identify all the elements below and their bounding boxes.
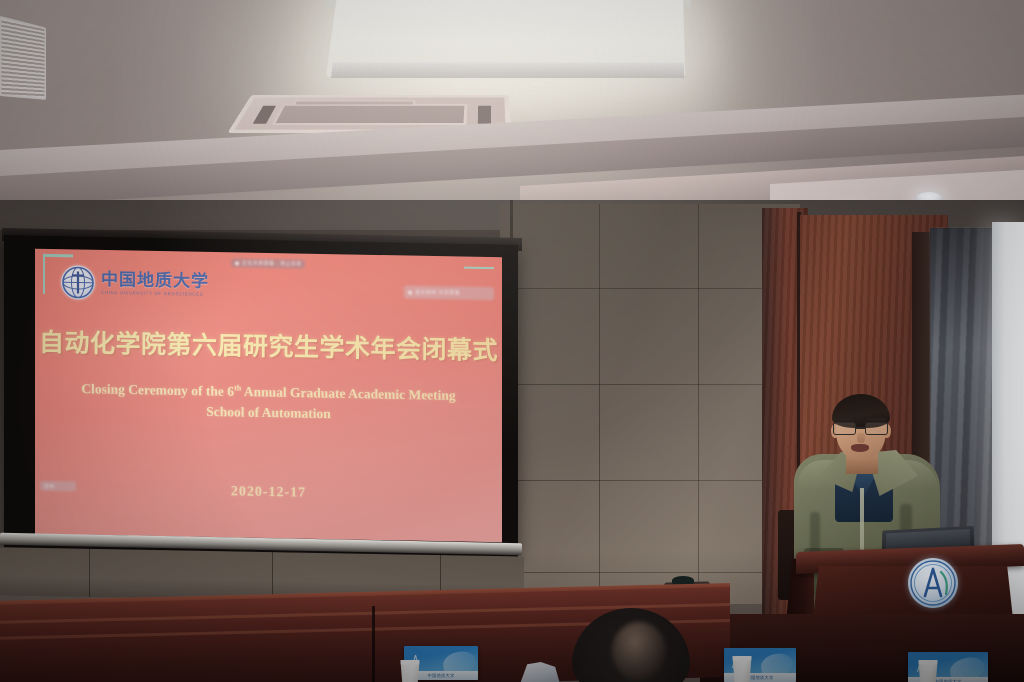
slide-title: 自动化学院第六届研究生学术年会闭幕式 — [35, 323, 502, 368]
school-of-automation-emblem — [908, 558, 958, 608]
slideshow-controls-label: 退出放映 共享屏幕 — [415, 289, 460, 297]
university-name-en: CHINA UNIVERSITY OF GEOSCIENCES — [101, 290, 209, 297]
louvre-vent-icon — [0, 16, 46, 100]
share-status-dot — [235, 261, 239, 265]
presentation-slide[interactable]: 中国地质大学 CHINA UNIVERSITY OF GEOSCIENCES 正… — [35, 249, 502, 543]
share-toolbar-label: 正在共享屏幕 · 停止共享 — [242, 260, 301, 268]
ac-vent-grille — [271, 104, 467, 125]
slide-subtitle: Closing Ceremony of the 6th Annual Gradu… — [65, 375, 472, 426]
slide-accent-mark — [464, 267, 494, 270]
slide-subtitle-line2: School of Automation — [206, 403, 331, 420]
university-logo: 中国地质大学 CHINA UNIVERSITY OF GEOSCIENCES — [61, 265, 209, 302]
slide-subtitle-part1: Closing Ceremony of the 6 — [81, 381, 234, 399]
globe-seal-icon — [61, 265, 95, 300]
slide-subtitle-part2: Annual Graduate Academic Meeting — [241, 384, 456, 403]
presenter-mouth — [851, 444, 869, 452]
slide-date: 2020-12-17 — [35, 481, 502, 506]
light-panel-frame-lower — [331, 62, 684, 78]
slide-accent-mark — [43, 254, 45, 294]
slideshow-control-dot — [408, 290, 412, 294]
conference-room-photo: 中国地质大学 CHINA UNIVERSITY OF GEOSCIENCES 正… — [0, 0, 1024, 682]
screen-share-toolbar[interactable]: 正在共享屏幕 · 停止共享 — [231, 258, 305, 268]
university-name-cn: 中国地质大学 — [101, 271, 209, 290]
ac-vent-fin — [477, 106, 491, 124]
slide-accent-mark — [43, 254, 73, 258]
presenter-nose — [857, 433, 865, 443]
ac-vent-slot — [292, 100, 415, 105]
wall-sheen — [500, 204, 800, 604]
slideshow-controls[interactable]: 退出放映 共享屏幕 — [404, 285, 494, 300]
attendee-scalp-highlight — [612, 622, 666, 680]
